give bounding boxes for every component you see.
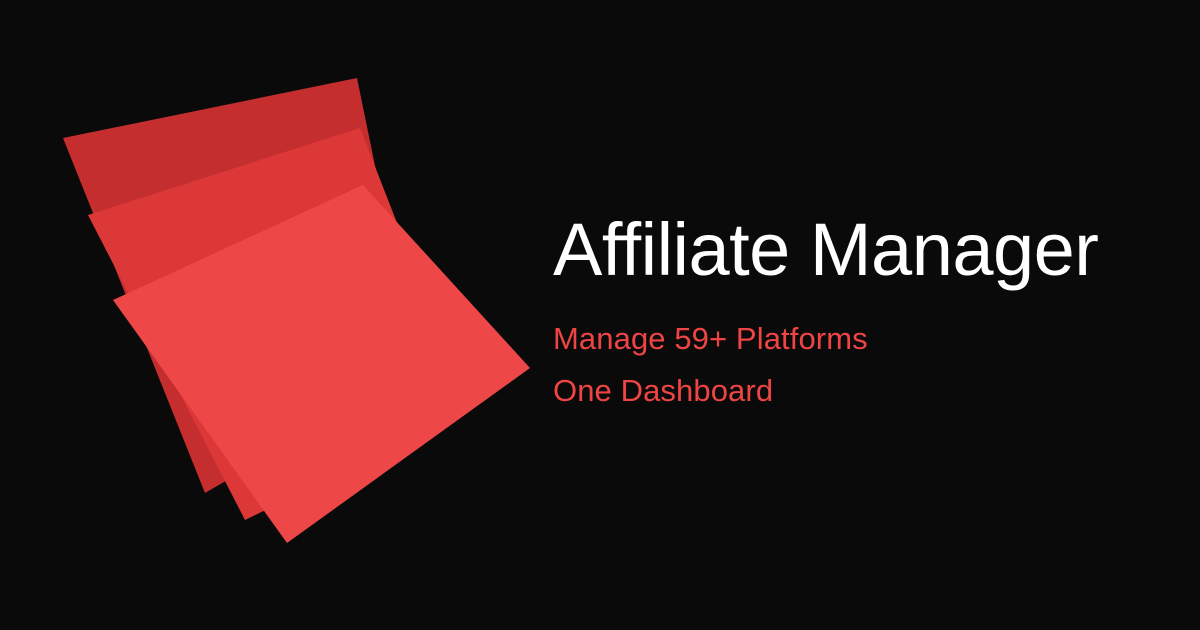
card-middle-shape	[88, 128, 470, 520]
tagline-line-1: Manage 59+ Platforms	[553, 313, 868, 365]
card-back-shape	[63, 78, 417, 493]
card-front-shape	[113, 185, 530, 543]
tagline-line-2: One Dashboard	[553, 365, 773, 417]
og-card-canvas: Affiliate Manager Manage 59+ Platforms O…	[0, 0, 1200, 630]
text-block: Affiliate Manager Manage 59+ Platforms O…	[553, 0, 1193, 630]
card-stack-illustration	[0, 0, 600, 630]
page-title: Affiliate Manager	[553, 213, 1098, 287]
